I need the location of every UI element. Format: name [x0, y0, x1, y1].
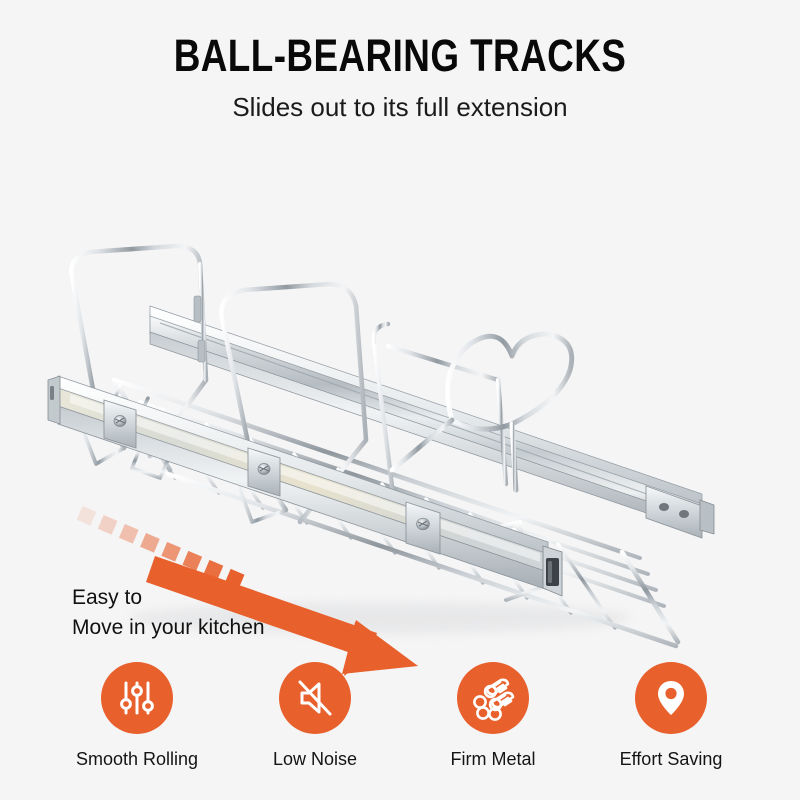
feature-item-low-noise: Low Noise: [226, 662, 404, 770]
callout-line-1: Easy to: [72, 583, 265, 613]
speaker-mute-icon: [279, 662, 351, 734]
ball-bearing-slide-rail-front: [48, 376, 562, 596]
product-image: [0, 118, 800, 658]
feature-label: Effort Saving: [620, 749, 723, 770]
metal-tubes-icon: [457, 662, 529, 734]
product-feature-banner: BALL-BEARING TRACKS Slides out to its fu…: [0, 0, 800, 800]
page-title: BALL-BEARING TRACKS: [72, 30, 728, 82]
callout-text: Easy to Move in your kitchen: [72, 583, 265, 643]
sliders-icon: [101, 662, 173, 734]
feature-label: Firm Metal: [451, 749, 536, 770]
feature-item-firm-metal: Firm Metal: [404, 662, 582, 770]
feature-label: Smooth Rolling: [76, 749, 198, 770]
callout-line-2: Move in your kitchen: [72, 613, 265, 643]
feature-item-smooth-rolling: Smooth Rolling: [48, 662, 226, 770]
feature-item-effort-saving: Effort Saving: [582, 662, 760, 770]
feature-list: Smooth Rolling Low Noise: [48, 662, 760, 770]
feature-label: Low Noise: [273, 749, 357, 770]
location-pin-icon: [635, 662, 707, 734]
